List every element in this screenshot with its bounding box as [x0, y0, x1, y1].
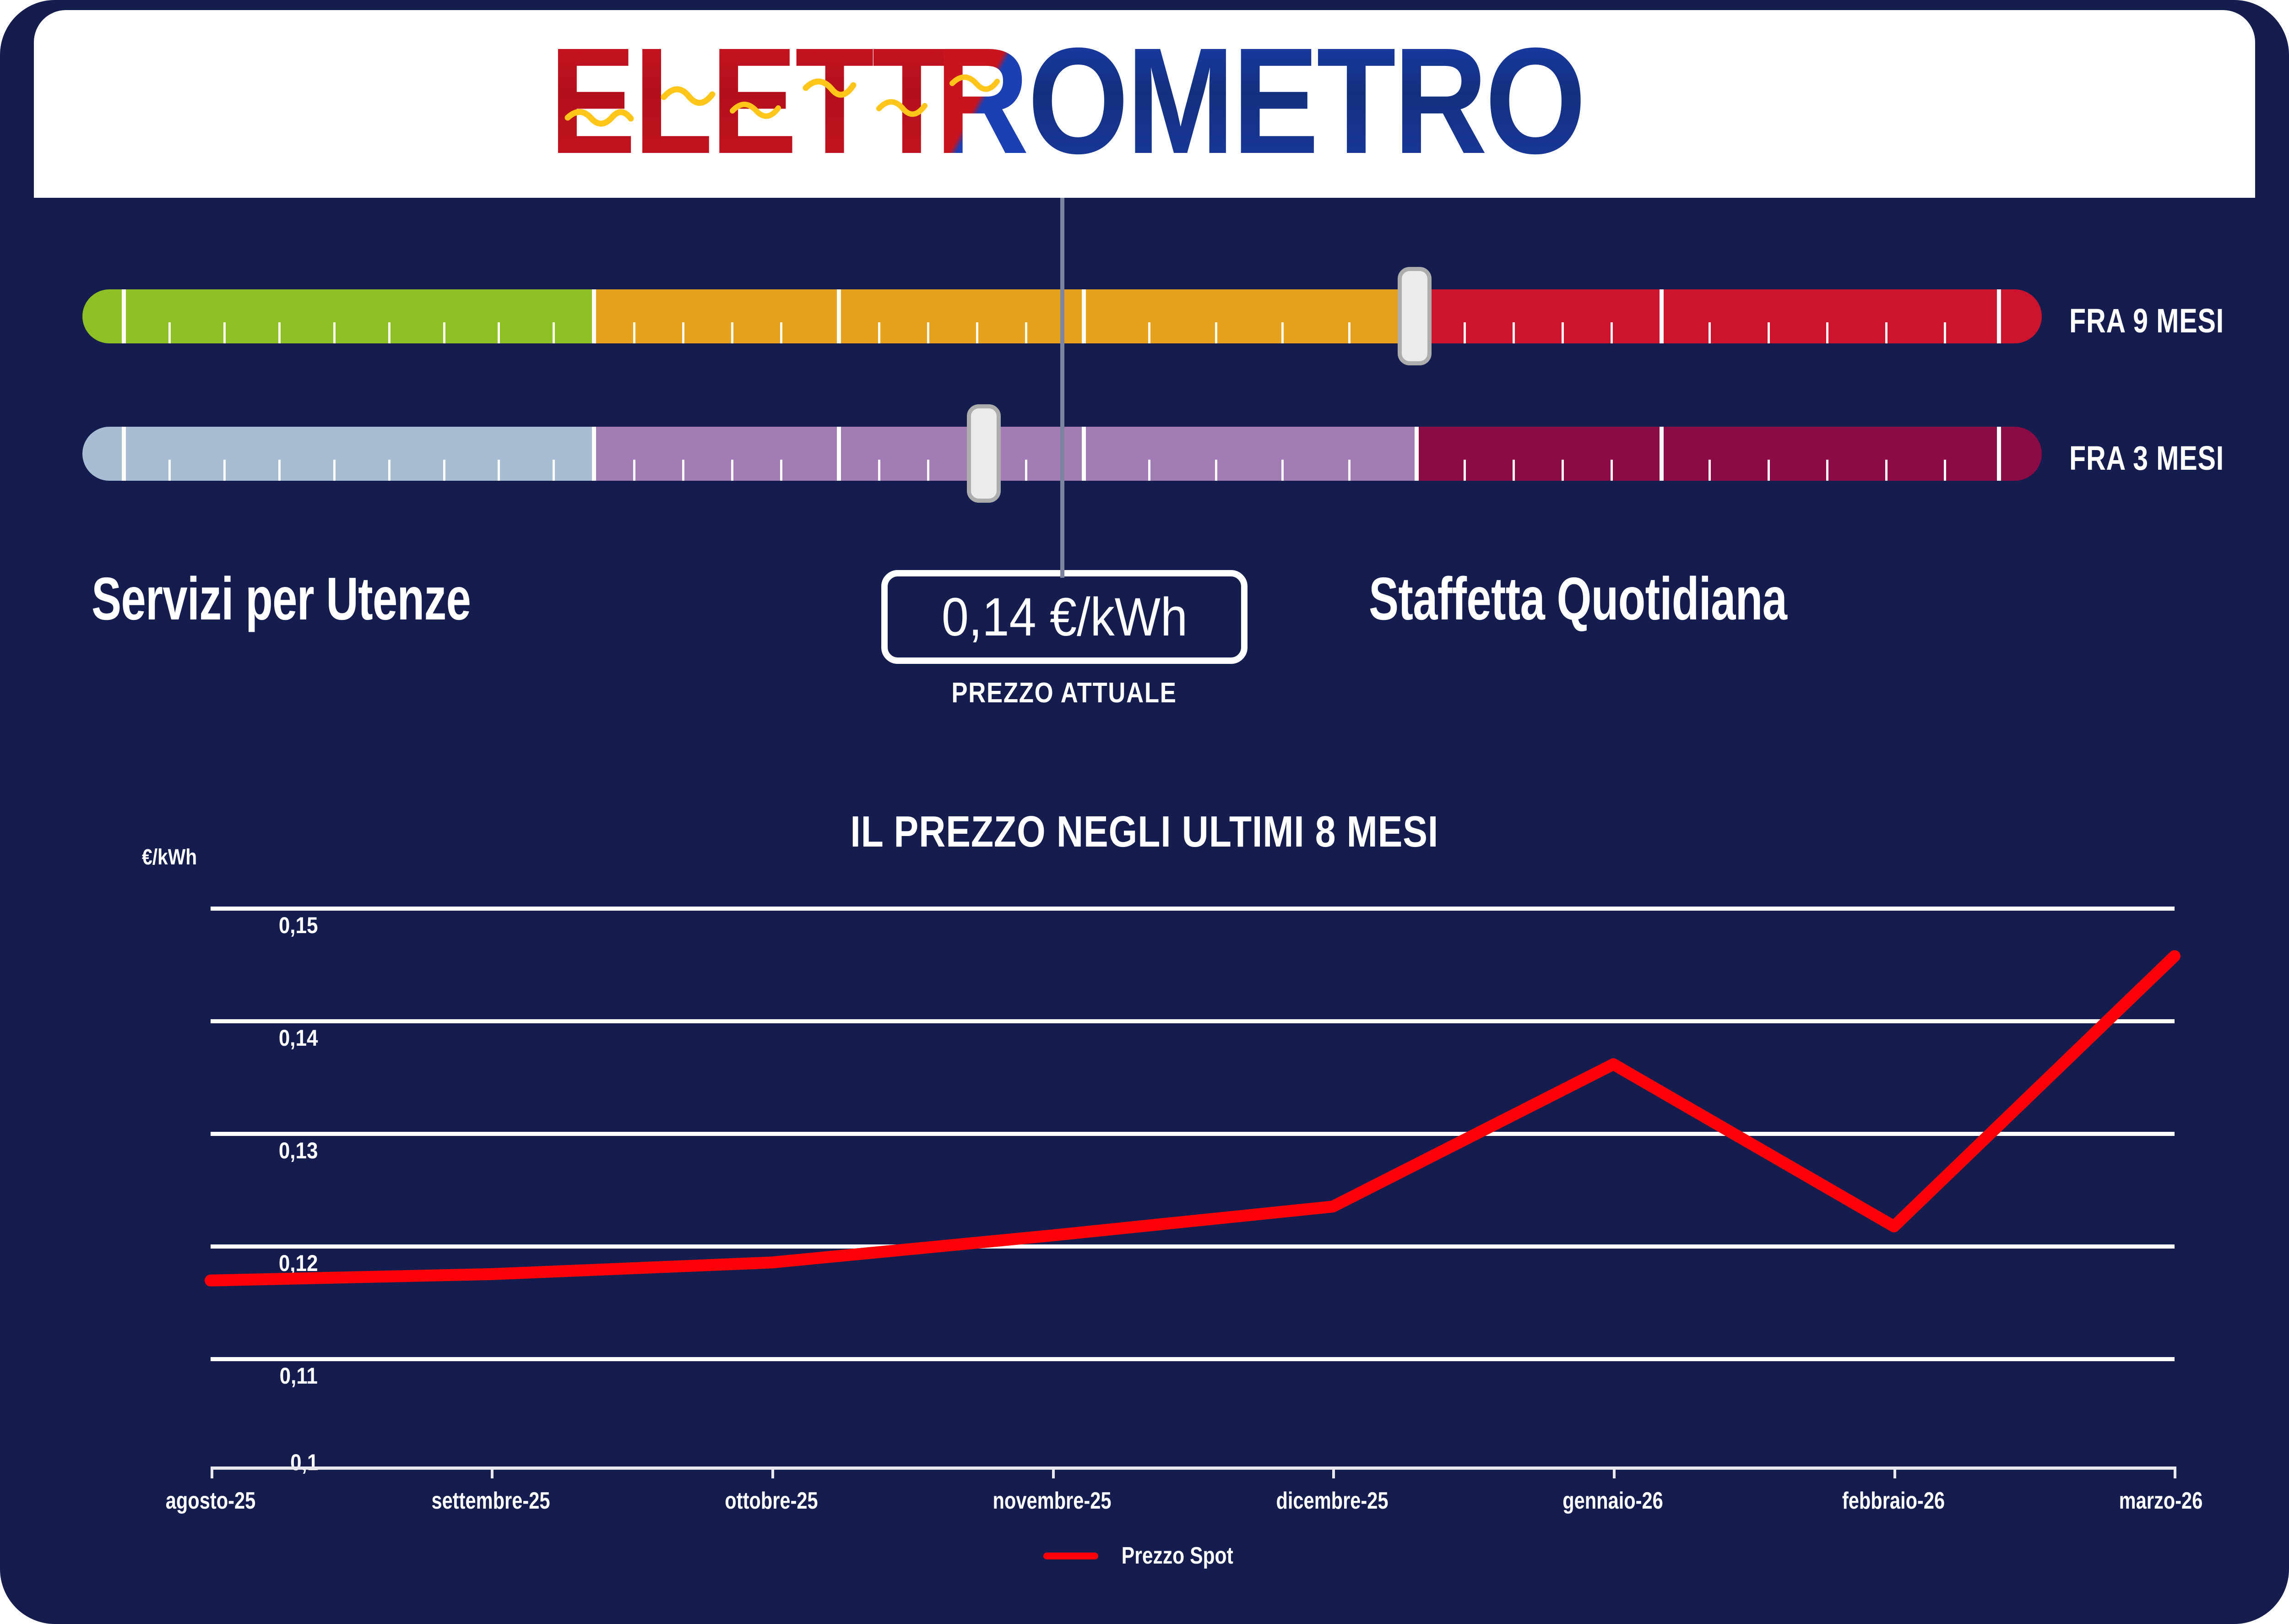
x-tick-mark [1052, 1466, 1055, 1478]
x-tick-label: gennaio-26 [1562, 1487, 1663, 1515]
x-tick-mark [771, 1466, 774, 1478]
x-tick-label: ottobre-25 [725, 1487, 818, 1515]
left-title: Servizi per Utenze [92, 564, 471, 633]
gauge-marker-fra-9-mesi[interactable] [1398, 267, 1432, 365]
x-tick-mark [211, 1466, 213, 1478]
y-axis-unit-label: €/kWh [142, 845, 197, 870]
gauge-segment-low [82, 289, 592, 343]
current-price-value: 0,14 €/kWh [941, 586, 1187, 648]
price-connector-line [1060, 198, 1064, 578]
current-price-caption: PREZZO ATTUALE [952, 677, 1177, 709]
chart-legend: Prezzo Spot [0, 1542, 2289, 1570]
price-line-series [211, 907, 2175, 1470]
chart-title: IL PREZZO NEGLI ULTIMI 8 MESI [0, 807, 2289, 857]
elettrometro-logo: ELETT R OMETRO [549, 28, 1740, 179]
gauge-segment-high [1415, 427, 2042, 481]
svg-text:R: R [935, 28, 1027, 179]
x-tick-label: novembre-25 [993, 1487, 1112, 1515]
x-tick-label: settembre-25 [432, 1487, 550, 1515]
legend-swatch-prezzo-spot [1043, 1553, 1098, 1559]
x-tick-mark [1613, 1466, 1616, 1478]
gauge-marker-fra-3-mesi[interactable] [967, 404, 1001, 503]
x-axis-line [211, 1466, 2175, 1470]
svg-text:OMETRO: OMETRO [1028, 28, 1584, 179]
x-tick-label: febbraio-26 [1842, 1487, 1945, 1515]
infographic-frame: ELETT R OMETRO [0, 0, 2289, 1624]
gauge-label-fra-3-mesi: FRA 3 MESI [2069, 439, 2224, 478]
chart-title-text: IL PREZZO NEGLI ULTIMI 8 MESI [851, 807, 1439, 857]
gauge-label-fra-9-mesi: FRA 9 MESI [2069, 301, 2224, 340]
x-tick-label: agosto-25 [166, 1487, 255, 1515]
logo-artwork: ELETT R OMETRO [549, 28, 1740, 179]
x-tick-label: dicembre-25 [1276, 1487, 1388, 1515]
header-panel: ELETT R OMETRO [34, 10, 2255, 198]
right-title: Staffetta Quotidiana [1369, 564, 1787, 633]
current-price-block: 0,14 €/kWh PREZZO ATTUALE [881, 570, 1248, 709]
current-price-box: 0,14 €/kWh [881, 570, 1248, 664]
x-tick-mark [491, 1466, 494, 1478]
gauge-segment-high [1415, 289, 2042, 343]
x-tick-mark [1893, 1466, 1896, 1478]
x-tick-mark [2174, 1466, 2176, 1478]
gauge-segment-low [82, 427, 592, 481]
gauge-segment-medium [592, 289, 1415, 343]
x-axis-labels: agosto-25 settembre-25 ottobre-25 novemb… [0, 1487, 2289, 1528]
gauge-segment-medium [592, 427, 1415, 481]
x-tick-label: marzo-26 [2119, 1487, 2203, 1515]
chart-plot-area [211, 907, 2175, 1470]
x-tick-mark [1332, 1466, 1335, 1478]
legend-label-prezzo-spot: Prezzo Spot [1122, 1542, 1233, 1570]
